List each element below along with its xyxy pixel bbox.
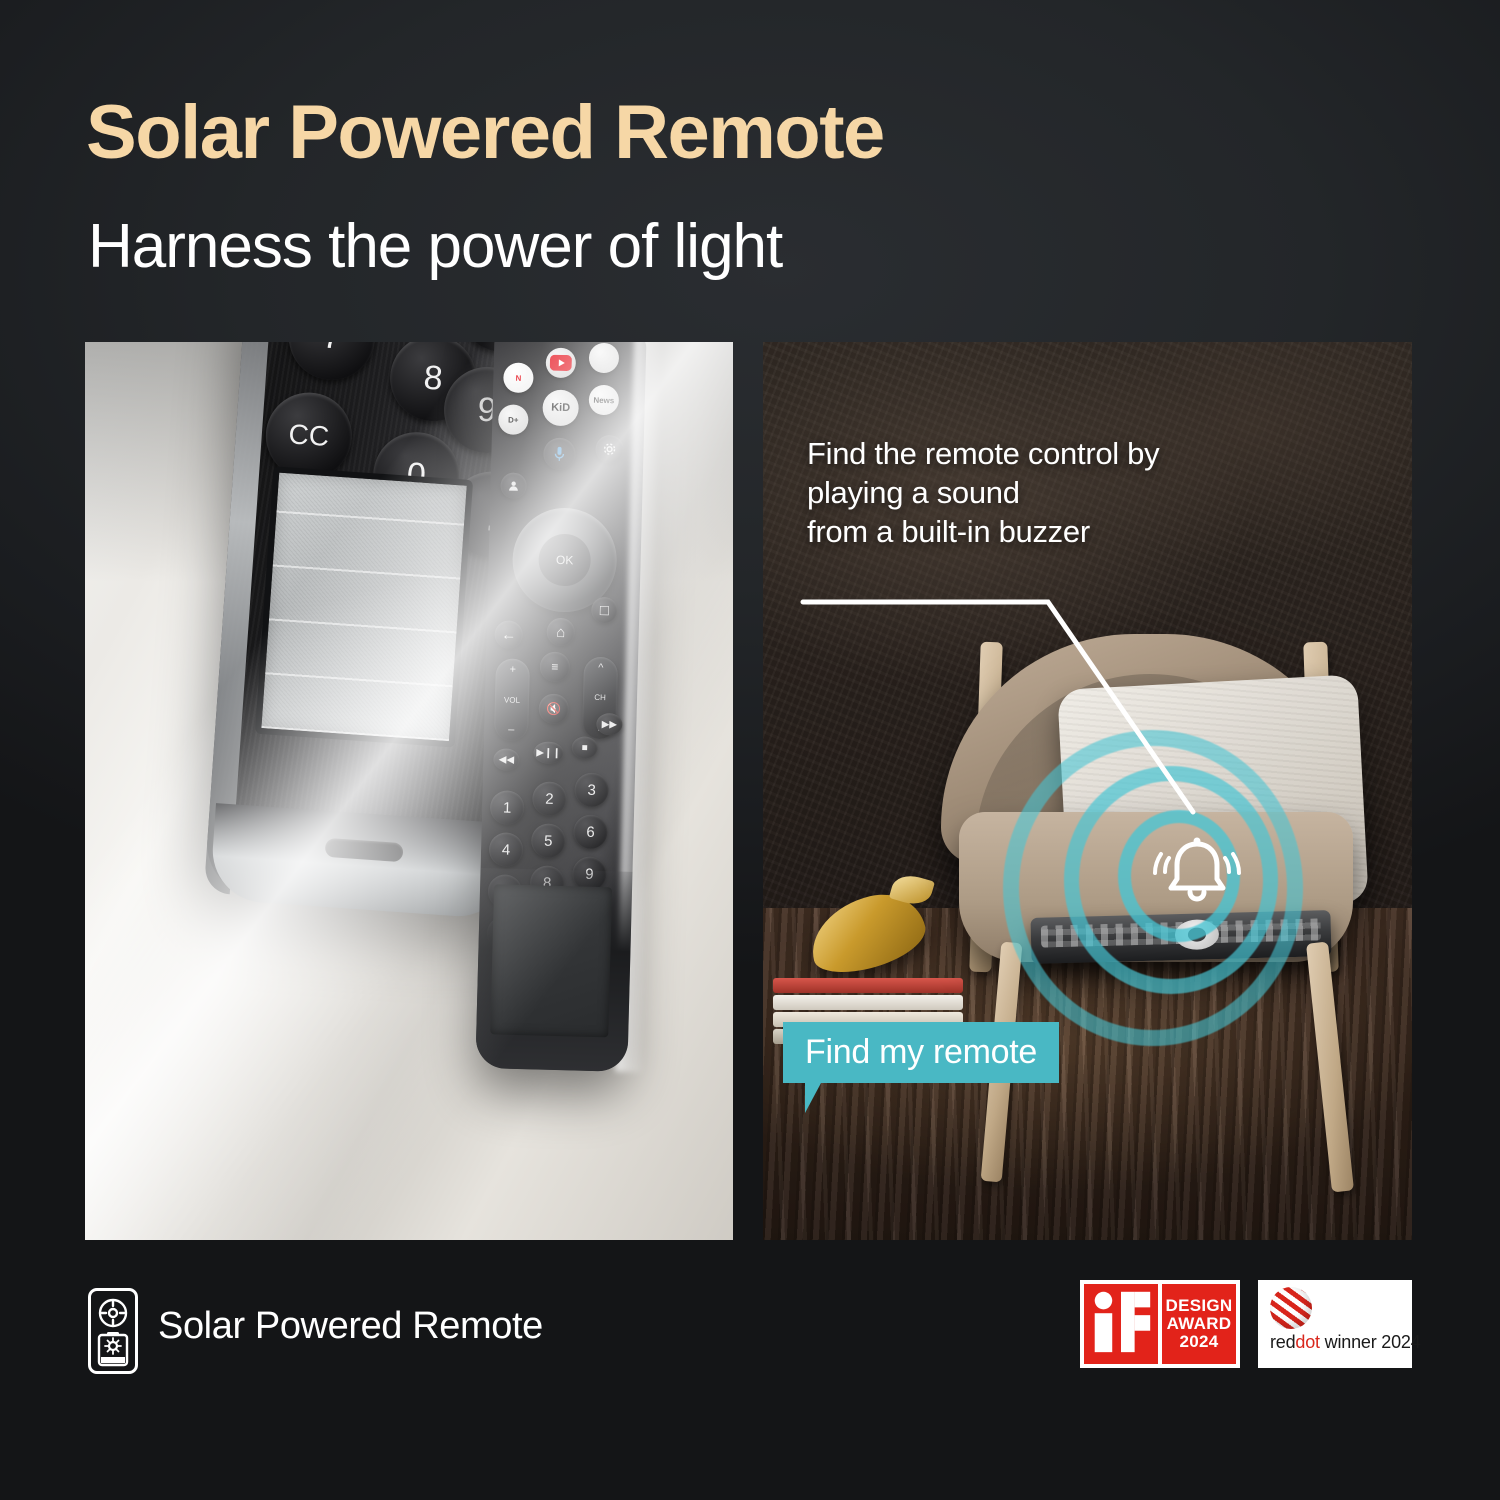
volume-rocker: + VOL – bbox=[494, 658, 530, 741]
remote-bottom-chin bbox=[209, 803, 513, 920]
app-key-news: News bbox=[588, 385, 619, 416]
key-2: 2 bbox=[532, 781, 567, 816]
page-title: Solar Powered Remote bbox=[86, 95, 884, 171]
rewind-icon: ◀◀ bbox=[493, 748, 520, 771]
find-my-remote-photo-panel: Find the remote control by playing a sou… bbox=[763, 342, 1412, 1240]
settings-gear-icon bbox=[595, 435, 624, 464]
solar-cell-panel bbox=[255, 466, 473, 747]
book-white-1 bbox=[773, 995, 963, 1010]
app-key-netflix: N bbox=[503, 362, 534, 393]
feature-label: Solar Powered Remote bbox=[158, 1305, 543, 1348]
key-1: 1 bbox=[490, 790, 525, 825]
if-line-3: 2024 bbox=[1179, 1333, 1218, 1351]
key-5: 5 bbox=[531, 823, 566, 858]
app-key-kid: KiD bbox=[542, 389, 579, 426]
callout-line-3: from a built-in buzzer bbox=[807, 512, 1159, 551]
callout-line-2: playing a sound bbox=[807, 473, 1159, 512]
profile-icon bbox=[500, 472, 527, 499]
reddot-sphere-icon bbox=[1270, 1287, 1312, 1329]
fast-forward-icon: ▶▶ bbox=[596, 713, 623, 736]
back-icon: ← bbox=[494, 620, 523, 649]
ch-up-label: ^ bbox=[598, 662, 603, 674]
vol-down-label: – bbox=[508, 724, 514, 736]
reddot-word-dot: dot bbox=[1295, 1332, 1319, 1352]
ch-label: CH bbox=[594, 693, 606, 702]
key-4: 4 bbox=[489, 832, 524, 867]
solar-remote-icon bbox=[88, 1288, 138, 1374]
ringing-bell-icon bbox=[1143, 822, 1251, 930]
solar-remote-photo-panel: 7 8 9 CC 0 . N D+ KiD News bbox=[85, 342, 733, 1240]
home-icon: ⌂ bbox=[546, 618, 575, 647]
if-award-text: DESIGN AWARD 2024 bbox=[1162, 1284, 1236, 1364]
reddot-label: reddot winner 2024 bbox=[1270, 1332, 1421, 1353]
ok-button: OK bbox=[538, 533, 591, 586]
guide-icon: □ bbox=[591, 597, 618, 624]
key-3: 3 bbox=[574, 772, 609, 807]
find-my-remote-bubble[interactable]: Find my remote bbox=[783, 1022, 1059, 1083]
remote-full-body: N D+ KiD News OK ← ⌂ □ + bbox=[475, 342, 646, 1072]
page-subtitle: Harness the power of light bbox=[88, 216, 782, 278]
mute-icon: 🔇 bbox=[538, 693, 569, 724]
mic-icon bbox=[543, 437, 576, 470]
app-key-youtube bbox=[545, 347, 576, 378]
stop-icon: ■ bbox=[571, 736, 598, 759]
callout-line-1: Find the remote control by bbox=[807, 434, 1159, 473]
if-line-1: DESIGN bbox=[1166, 1297, 1233, 1315]
solar-cell-lines bbox=[261, 473, 466, 741]
reddot-winner-badge: reddot winner 2024 bbox=[1258, 1280, 1412, 1368]
subtitle-icon: ≡ bbox=[539, 651, 570, 682]
app-key-prime-video bbox=[589, 343, 620, 374]
reddot-word-red: red bbox=[1270, 1332, 1295, 1352]
if-line-2: AWARD bbox=[1167, 1315, 1232, 1333]
promo-page: Solar Powered Remote Harness the power o… bbox=[0, 0, 1500, 1500]
if-design-award-badge: DESIGN AWARD 2024 bbox=[1080, 1280, 1240, 1368]
solar-cell-panel-secondary bbox=[490, 884, 612, 1037]
if-logo-cell bbox=[1084, 1284, 1158, 1364]
reddot-word-winner: winner 2024 bbox=[1320, 1332, 1421, 1352]
if-mark bbox=[1084, 1284, 1158, 1362]
callout-text: Find the remote control by playing a sou… bbox=[807, 434, 1159, 551]
key-6: 6 bbox=[573, 814, 608, 849]
vol-up-label: + bbox=[509, 664, 516, 676]
vol-label: VOL bbox=[504, 695, 520, 704]
app-key-disney-plus: D+ bbox=[498, 404, 529, 435]
play-pause-icon: ▶❙❙ bbox=[533, 741, 564, 764]
book-red bbox=[773, 978, 963, 993]
